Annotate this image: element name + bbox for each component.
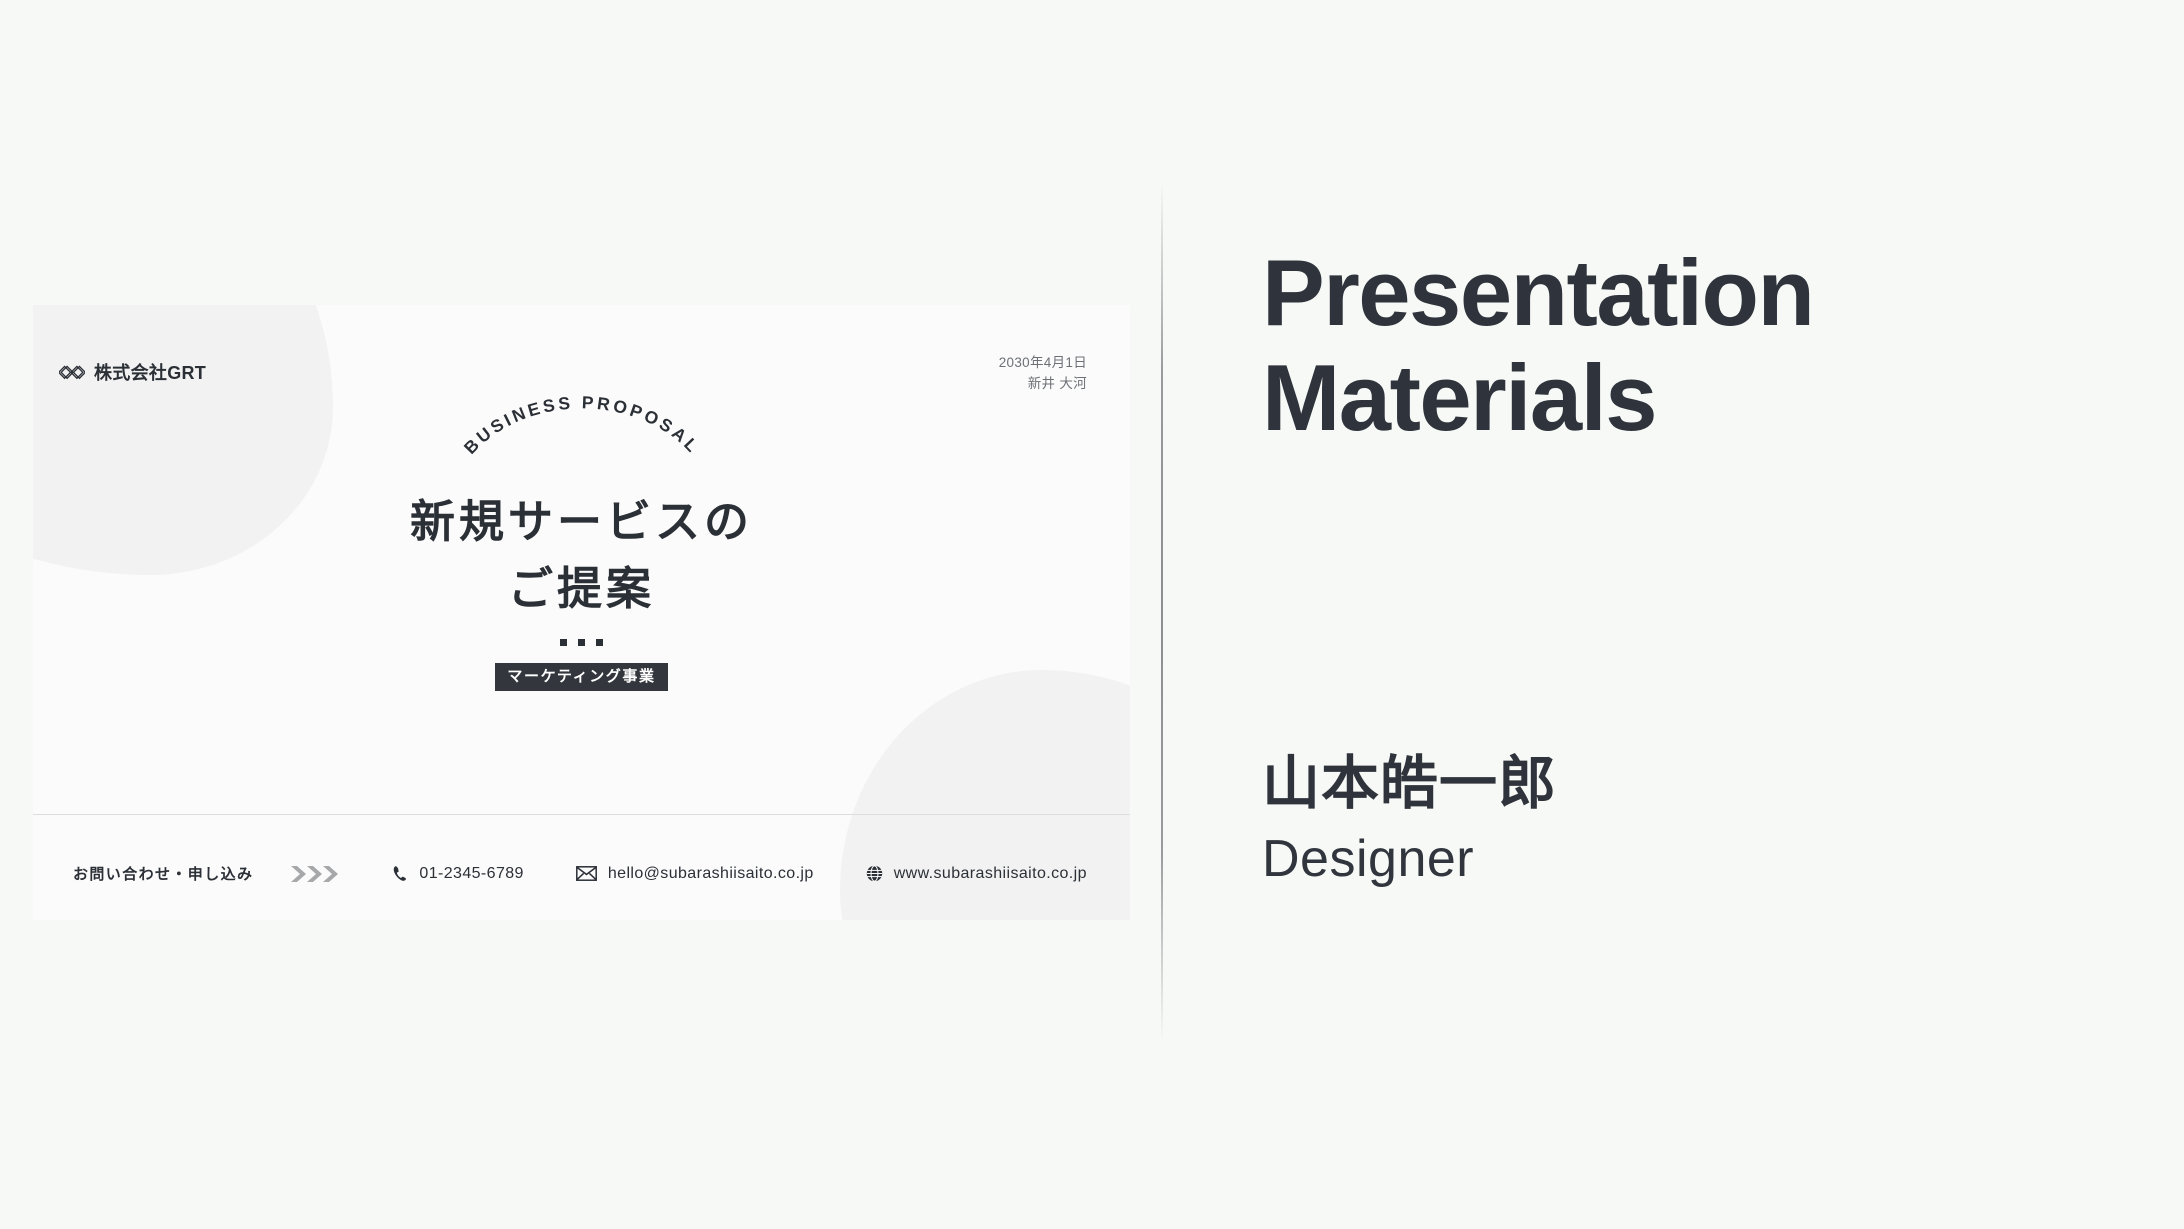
double-diamond-logo-icon bbox=[59, 364, 85, 381]
company-logo: 株式会社GRT bbox=[59, 359, 206, 385]
slide-content: 株式会社GRT 2030年4月1日 新井 大河 BUSINESS PROPOSA… bbox=[33, 305, 1130, 920]
slide-title-line-1: 新規サービスの bbox=[33, 495, 1130, 550]
slide-preview-card[interactable]: 株式会社GRT 2030年4月1日 新井 大河 BUSINESS PROPOSA… bbox=[33, 305, 1130, 920]
contact-phone[interactable]: 01-2345-6789 bbox=[393, 865, 523, 883]
arched-subtitle: BUSINESS PROPOSAL bbox=[432, 427, 732, 489]
mail-icon bbox=[576, 866, 597, 881]
contact-phone-value: 01-2345-6789 bbox=[419, 865, 523, 883]
arched-subtitle-text: BUSINESS PROPOSAL bbox=[459, 392, 703, 458]
svg-text:BUSINESS PROPOSAL: BUSINESS PROPOSAL bbox=[459, 392, 703, 458]
slide-meta: 2030年4月1日 新井 大河 bbox=[999, 353, 1087, 395]
footer-divider bbox=[33, 814, 1130, 815]
contact-website[interactable]: www.subarashiisaito.co.jp bbox=[866, 865, 1087, 883]
contact-email-value: hello@subarashiisaito.co.jp bbox=[608, 865, 814, 883]
slide-center-block: BUSINESS PROPOSAL 新規サービスの ご提案 マーケティング事業 bbox=[33, 427, 1130, 691]
page-title: Presentation Materials bbox=[1262, 240, 2042, 451]
slide-author: 新井 大河 bbox=[999, 374, 1087, 395]
contact-email[interactable]: hello@subarashiisaito.co.jp bbox=[576, 865, 814, 883]
presenter-role: Designer bbox=[1262, 828, 2042, 890]
presenter-block: 山本皓一郎 Designer bbox=[1262, 749, 2042, 891]
divider-dot bbox=[560, 639, 567, 646]
slide-footer: お問い合わせ・申し込み 01-2345-6789 bbox=[73, 863, 1090, 884]
category-badge: マーケティング事業 bbox=[495, 663, 667, 691]
globe-icon bbox=[866, 865, 883, 882]
phone-icon bbox=[393, 865, 408, 882]
slide-title-line-2: ご提案 bbox=[33, 562, 1130, 617]
dot-divider bbox=[33, 639, 1130, 646]
contact-website-value: www.subarashiisaito.co.jp bbox=[894, 865, 1087, 883]
slide-date: 2030年4月1日 bbox=[999, 353, 1087, 374]
company-logo-text: 株式会社GRT bbox=[94, 359, 206, 385]
info-panel: Presentation Materials 山本皓一郎 Designer bbox=[1262, 240, 2042, 891]
presenter-name: 山本皓一郎 bbox=[1262, 749, 2042, 819]
divider-dot bbox=[578, 639, 585, 646]
vertical-divider bbox=[1161, 182, 1163, 1041]
triple-chevron-right-icon bbox=[291, 864, 347, 884]
divider-dot bbox=[596, 639, 603, 646]
footer-label: お問い合わせ・申し込み bbox=[73, 863, 253, 884]
